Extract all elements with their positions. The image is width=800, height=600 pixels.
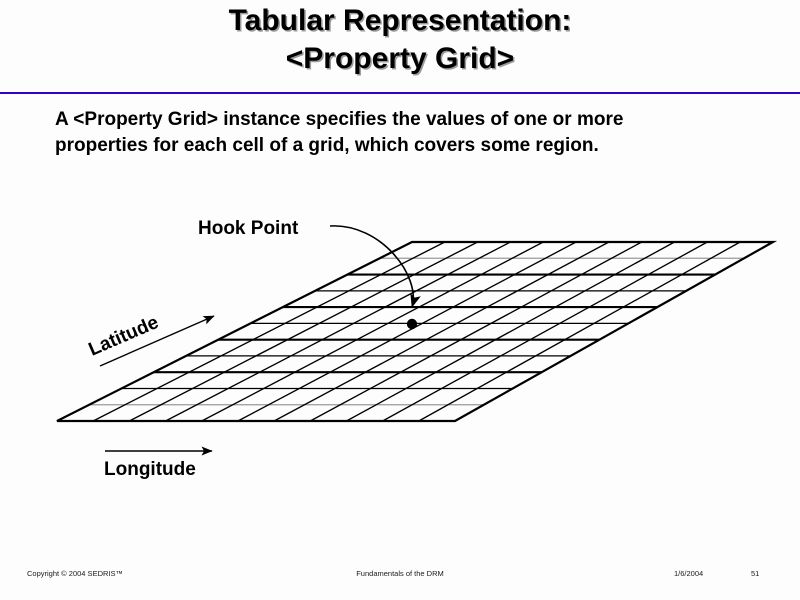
footer-date: 1/6/2004 (674, 569, 703, 578)
grid-column-line (238, 242, 576, 421)
grid-outline (57, 242, 773, 421)
grid-column-line (419, 242, 740, 421)
property-grid-diagram: Hook Point Latitude Longitude (0, 0, 800, 600)
grid-column-line (129, 242, 477, 421)
grid-diagonal-lines (57, 242, 773, 421)
grid-column-line (202, 242, 544, 421)
grid-horizontal-lines (57, 242, 773, 421)
hook-point-marker (407, 319, 417, 329)
longitude-label: Longitude (104, 459, 196, 480)
hook-point-label: Hook Point (198, 218, 299, 239)
footer-page-number: 51 (751, 569, 759, 578)
grid-column-line (346, 242, 674, 421)
grid-column-line (274, 242, 609, 421)
grid-column-line (166, 242, 511, 421)
grid-column-line (383, 242, 708, 421)
latitude-label: Latitude (86, 312, 162, 361)
grid-boundary (57, 242, 773, 421)
slide-footer: Copyright © 2004 SEDRIS™ Fundamentals of… (0, 569, 800, 585)
slide-canvas: Tabular Representation: <Property Grid> … (0, 0, 800, 600)
diagram-svg: Hook Point Latitude Longitude (0, 0, 800, 600)
